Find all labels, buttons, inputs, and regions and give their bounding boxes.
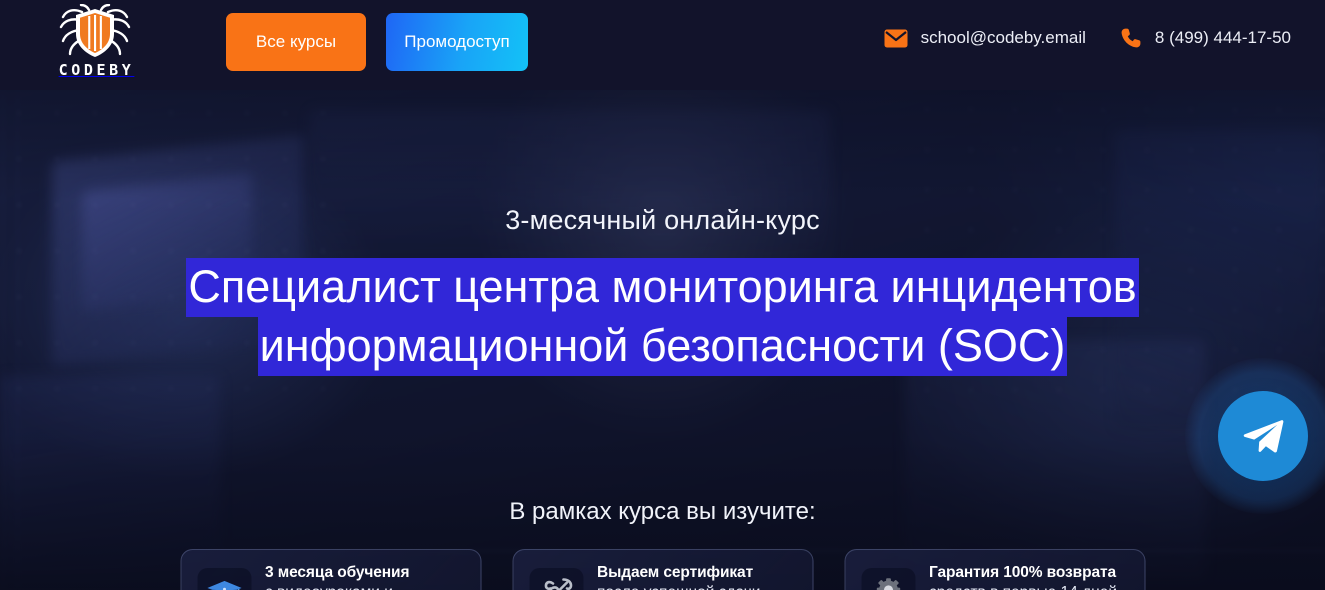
email-text: school@codeby.email bbox=[921, 28, 1086, 48]
headline-line-1-text: Специалист центра мониторинга инцидентов bbox=[186, 258, 1138, 317]
telegram-paper-plane-icon bbox=[1241, 417, 1285, 455]
feature-card-desc: с видеоуроками и заданиями bbox=[265, 583, 466, 590]
hero-kicker: 3-месячный онлайн-курс bbox=[0, 205, 1325, 236]
headline-line-2: информационной безопасности (SOC) bbox=[93, 316, 1233, 375]
graduation-cap-icon bbox=[205, 578, 243, 590]
page-title: Специалист центра мониторинга инцидентов… bbox=[93, 257, 1233, 375]
site-header: CODEBY Все курсы Промодоступ school@code… bbox=[0, 0, 1325, 90]
logo-wordmark: CODEBY bbox=[56, 63, 135, 78]
spider-shield-icon bbox=[59, 4, 131, 62]
money-refund-gear-icon: $ bbox=[869, 577, 907, 590]
telegram-fab-wrapper bbox=[1185, 358, 1325, 514]
feature-card-icon-tile bbox=[197, 568, 251, 590]
certificate-scroll-icon bbox=[537, 577, 575, 590]
feature-card-refund: $ Гарантия 100% возврата средств в первы… bbox=[844, 549, 1145, 590]
site-logo[interactable]: CODEBY bbox=[48, 4, 142, 84]
page-root: CODEBY Все курсы Промодоступ school@code… bbox=[0, 0, 1325, 590]
hero-section: 3-месячный онлайн-курс Специалист центра… bbox=[0, 90, 1325, 590]
feature-card-text: Гарантия 100% возврата средств в первые … bbox=[929, 563, 1130, 590]
envelope-icon bbox=[884, 29, 908, 48]
header-contacts: school@codeby.email 8 (499) 444-17-50 bbox=[884, 27, 1291, 49]
phone-icon bbox=[1120, 27, 1142, 49]
feature-card-title: 3 месяца обучения bbox=[265, 563, 466, 582]
feature-card-list: 3 месяца обучения с видеоуроками и задан… bbox=[180, 549, 1145, 590]
hero-subhead: В рамках курса вы изучите: bbox=[0, 498, 1325, 526]
feature-card-title: Гарантия 100% возврата bbox=[929, 563, 1130, 582]
feature-card-title: Выдаем сертификат bbox=[597, 563, 798, 582]
feature-card-certificate: Выдаем сертификат после успешной сдачи э… bbox=[512, 549, 813, 590]
feature-card-text: Выдаем сертификат после успешной сдачи э… bbox=[597, 563, 798, 590]
phone-text: 8 (499) 444-17-50 bbox=[1155, 28, 1291, 48]
telegram-chat-button[interactable] bbox=[1218, 391, 1308, 481]
feature-card-icon-tile bbox=[529, 568, 583, 590]
headline-line-2-text: информационной безопасности (SOC) bbox=[258, 317, 1068, 376]
feature-card-duration: 3 месяца обучения с видеоуроками и задан… bbox=[180, 549, 481, 590]
feature-card-desc: средств в первые 14 дней, если курс не п… bbox=[929, 583, 1130, 590]
feature-card-text: 3 месяца обучения с видеоуроками и задан… bbox=[265, 563, 466, 590]
header-nav-buttons: Все курсы Промодоступ bbox=[226, 13, 528, 71]
feature-card-icon-tile: $ bbox=[861, 568, 915, 590]
hero-content: 3-месячный онлайн-курс Специалист центра… bbox=[0, 90, 1325, 590]
promo-access-button[interactable]: Промодоступ bbox=[386, 13, 528, 71]
feature-card-desc: после успешной сдачи экзамена bbox=[597, 583, 798, 590]
email-contact-link[interactable]: school@codeby.email bbox=[884, 28, 1086, 48]
headline-line-1: Специалист центра мониторинга инцидентов bbox=[93, 257, 1233, 316]
phone-contact-link[interactable]: 8 (499) 444-17-50 bbox=[1120, 27, 1291, 49]
all-courses-button[interactable]: Все курсы bbox=[226, 13, 366, 71]
